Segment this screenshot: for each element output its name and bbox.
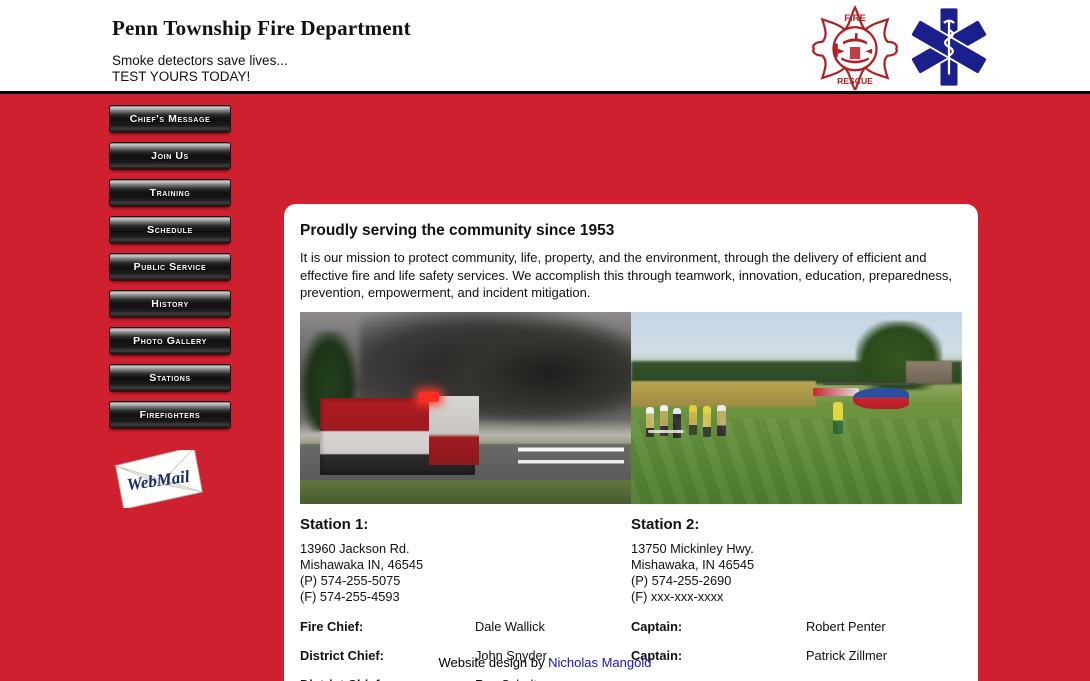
webmail-link[interactable]: WebMail	[112, 450, 204, 508]
roster-role: Captain:	[631, 619, 806, 634]
safety-tagline: Smoke detectors save lives... TEST YOURS…	[112, 53, 411, 85]
station-name: Station 2:	[631, 516, 962, 533]
station-phone: (P) 574-255-5075	[300, 573, 631, 589]
address-line-2: Mishawaka, IN 46545	[631, 557, 962, 573]
sidebar-item-photo-gallery[interactable]: Photo Gallery	[110, 328, 230, 354]
content-card: Proudly serving the community since 1953…	[284, 204, 978, 681]
helicopter-tail-shape	[813, 388, 859, 396]
station-fax: (F) 574-255-4593	[300, 589, 631, 605]
helicopter-rotor-shape	[823, 383, 916, 385]
page-body: Chief's Message Join Us Training Schedul…	[0, 94, 1090, 678]
sidebar-item-label: Stations	[149, 372, 191, 384]
roster-row: District Chief: Ray Schultz	[300, 677, 631, 681]
sidebar-item-label: Training	[150, 187, 191, 199]
main-navigation: Chief's Message Join Us Training Schedul…	[110, 106, 232, 508]
station-1-roster: Fire Chief: Dale Wallick District Chief:…	[300, 619, 631, 681]
fence-shape	[518, 442, 624, 473]
sidebar-item-label: Firefighters	[140, 409, 201, 421]
roster-row: Captain: Robert Penter	[631, 619, 962, 634]
sidebar-item-chiefs-message[interactable]: Chief's Message	[110, 106, 230, 132]
barn-shape	[906, 361, 952, 384]
address-line-1: 13960 Jackson Rd.	[300, 541, 631, 557]
sidebar-item-public-service[interactable]: Public Service	[110, 254, 230, 280]
roster-person: Dale Wallick	[475, 619, 545, 634]
webmail-envelope-icon: WebMail	[112, 450, 204, 508]
sidebar-item-firefighters[interactable]: Firefighters	[110, 402, 230, 428]
station-2-block: Station 2: 13750 Mickinley Hwy. Mishawak…	[631, 516, 962, 606]
sidebar-item-training[interactable]: Training	[110, 180, 230, 206]
site-header: Penn Township Fire Department Smoke dete…	[0, 0, 1090, 94]
roster-row: Fire Chief: Dale Wallick	[300, 619, 631, 634]
sidebar-item-label: Join Us	[151, 150, 189, 162]
station-2-roster: Captain: Robert Penter Captain: Patrick …	[631, 619, 962, 681]
fire-engine-cab-shape	[429, 396, 479, 465]
fire-rescue-maltese-cross-icon: FIRE RESCUE	[812, 4, 898, 90]
emergency-light-shape	[419, 392, 439, 402]
address-line-1: 13750 Mickinley Hwy.	[631, 541, 962, 557]
footer-prefix: Website design by	[439, 655, 549, 670]
sidebar-item-label: History	[151, 298, 188, 310]
roster-role: Fire Chief:	[300, 619, 475, 634]
station-1-block: Station 1: 13960 Jackson Rd. Mishawaka I…	[300, 516, 631, 606]
roster-person: Robert Penter	[806, 619, 886, 634]
sidebar-item-label: Public Service	[134, 261, 207, 273]
mission-statement: It is our mission to protect community, …	[300, 249, 962, 302]
stations-section: Station 1: 13960 Jackson Rd. Mishawaka I…	[300, 516, 962, 606]
sidebar-item-label: Chief's Message	[130, 113, 211, 125]
tagline-line-2: TEST YOURS TODAY!	[112, 69, 411, 85]
sidebar-item-join-us[interactable]: Join Us	[110, 143, 230, 169]
photo-strip	[300, 312, 962, 504]
station-fax: (F) xxx-xxx-xxxx	[631, 589, 962, 605]
station-address: 13750 Mickinley Hwy. Mishawaka, IN 46545…	[631, 541, 962, 606]
header-text-block: Penn Township Fire Department Smoke dete…	[112, 16, 411, 85]
logo-text-fire: FIRE	[844, 13, 866, 24]
tagline-line-1: Smoke detectors save lives...	[112, 53, 411, 69]
roster-role: District Chief:	[300, 677, 475, 681]
roster-person: Ray Schultz	[475, 677, 543, 681]
card-heading: Proudly serving the community since 1953	[300, 222, 962, 240]
sidebar-item-history[interactable]: History	[110, 291, 230, 317]
star-of-life-icon	[906, 4, 992, 90]
sidebar-item-schedule[interactable]: Schedule	[110, 217, 230, 243]
sidebar-item-label: Photo Gallery	[133, 335, 207, 347]
station-phone: (P) 574-255-2690	[631, 573, 962, 589]
helicopter-body-shape	[853, 388, 909, 409]
grass-shape	[300, 480, 631, 503]
photo-medevac-scene	[631, 312, 962, 504]
logo-text-rescue: RESCUE	[837, 76, 873, 86]
address-line-2: Mishawaka IN, 46545	[300, 557, 631, 573]
header-logos: FIRE RESCUE	[812, 4, 992, 90]
sidebar-item-stations[interactable]: Stations	[110, 365, 230, 391]
station-address: 13960 Jackson Rd. Mishawaka IN, 46545 (P…	[300, 541, 631, 606]
page-title: Penn Township Fire Department	[112, 16, 411, 41]
designer-link[interactable]: Nicholas Mangold	[548, 655, 651, 670]
mowing-pattern	[631, 419, 962, 503]
station-name: Station 1:	[300, 516, 631, 533]
photo-fire-scene	[300, 312, 631, 504]
site-footer: Website design by Nicholas Mangold	[0, 655, 1090, 670]
sidebar-item-label: Schedule	[147, 224, 193, 236]
personnel-section: Fire Chief: Dale Wallick District Chief:…	[300, 619, 962, 681]
